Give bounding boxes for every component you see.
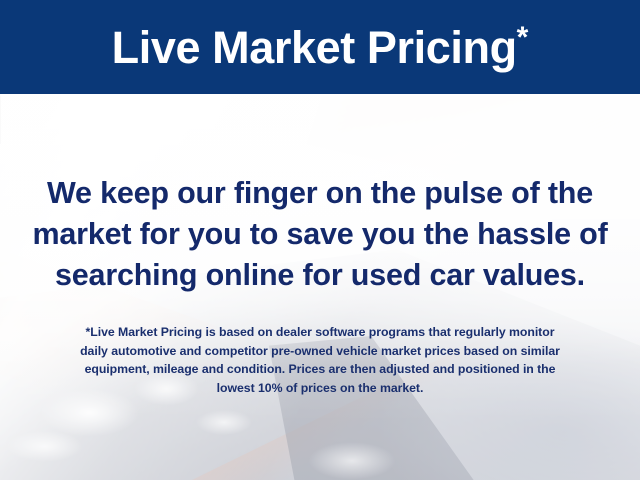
disclaimer-text: *Live Market Pricing is based on dealer … <box>29 323 611 397</box>
disclaimer-line-1: *Live Market Pricing is based on dealer … <box>29 323 611 342</box>
headline-line-2: market for you to save you the hassle of <box>30 214 610 255</box>
headline-line-1: We keep our finger on the pulse of the <box>30 173 610 214</box>
disclaimer-line-4: lowest 10% of prices on the market. <box>29 379 611 398</box>
page-title: Live Market Pricing* <box>112 23 529 72</box>
disclaimer-line-2: daily automotive and competitor pre-owne… <box>29 342 611 361</box>
disclaimer-line-3: equipment, mileage and condition. Prices… <box>29 360 611 379</box>
page-title-asterisk: * <box>517 21 529 54</box>
content-area: We keep our finger on the pulse of the m… <box>0 94 640 480</box>
live-market-pricing-banner: Live Market Pricing* We keep our finger … <box>0 0 640 480</box>
page-title-text: Live Market Pricing <box>112 22 517 73</box>
header-bar: Live Market Pricing* <box>0 0 640 94</box>
headline-line-3: searching online for used car values. <box>30 255 610 296</box>
headline-message: We keep our finger on the pulse of the m… <box>30 173 610 296</box>
